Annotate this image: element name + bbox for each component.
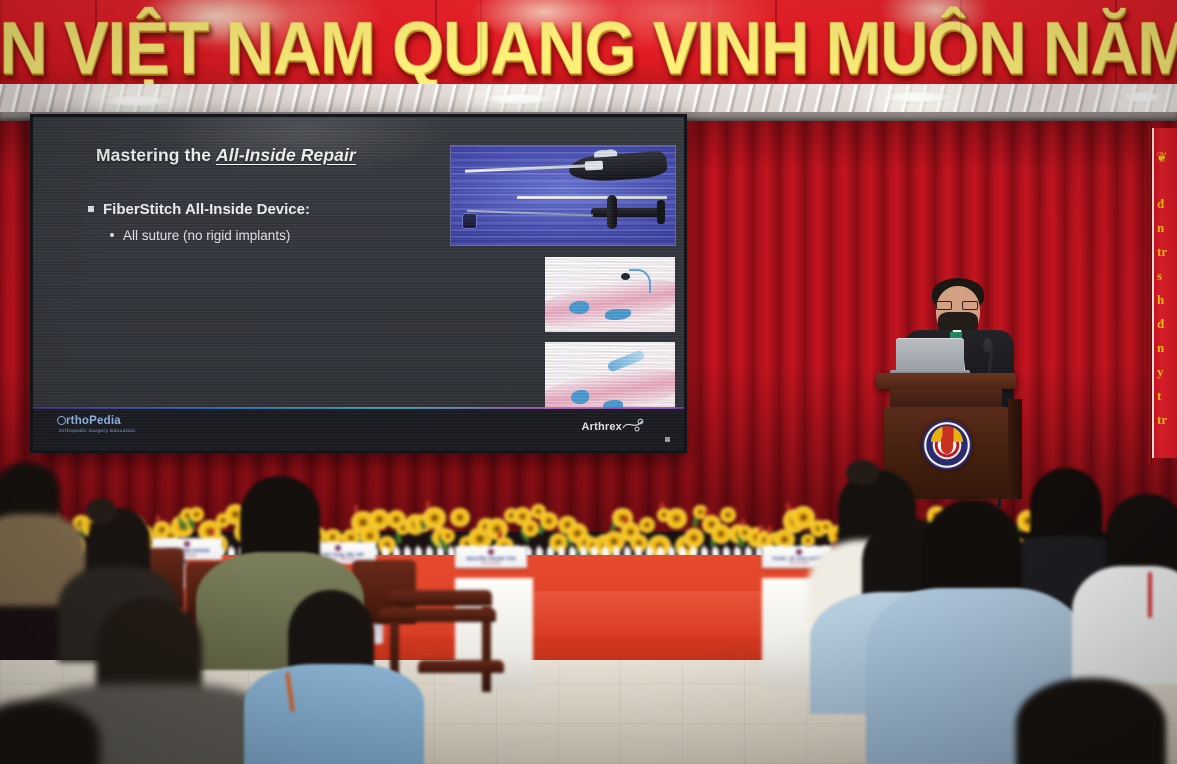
guide-rod (517, 196, 667, 199)
sunflower (423, 507, 446, 530)
audience-head (1016, 678, 1166, 764)
suture-wire (467, 210, 593, 216)
audience-hair-bun (846, 460, 880, 486)
podium-side-panel (1008, 399, 1022, 499)
placard-role-text: Chủ tọa đoàn (481, 561, 500, 565)
sunflower (666, 508, 687, 529)
orthopedia-tagline: Orthopedic Surgery Education (59, 428, 135, 433)
dot-bullet-icon (110, 233, 114, 237)
sunflower (540, 512, 558, 530)
sunflower (189, 507, 204, 522)
cross-handle-instrument (591, 208, 661, 217)
audience-body (1072, 566, 1177, 684)
audience-hair-bun (86, 498, 116, 524)
placard-role-text: Chủ tọa đoàn (789, 561, 808, 565)
side-banner-text: đ n tr s h đ n y t tr (1157, 192, 1177, 432)
placard-crest-icon (488, 549, 494, 555)
screen-dead-pixel (665, 437, 670, 442)
slide-title-emphasis: All-Inside Repair (216, 145, 356, 165)
chair (388, 590, 492, 606)
orthopedia-logo: rthoPedia (57, 415, 121, 427)
sunflower (720, 507, 736, 523)
podium-and-speaker (860, 268, 1040, 498)
audience-head (240, 476, 320, 560)
university-emblem-icon (922, 420, 972, 470)
presentation-screen: Mastering the All-Inside Repair FiberSti… (33, 117, 684, 450)
name-placard: NGUYỄN THANH TÂN Chủ tọa đoàn (455, 546, 527, 568)
slide-title: Mastering the All-Inside Repair (96, 145, 356, 166)
ceiling-light (1120, 90, 1166, 104)
placard-crest-icon (184, 541, 190, 547)
audience-head (1030, 468, 1102, 546)
audience-head (96, 598, 202, 698)
slide-bullet-primary-text: FiberStitch All-Inside Device: (103, 201, 310, 218)
sunflower (639, 517, 655, 533)
slide-bullet-secondary-text: All suture (no rigid implants) (123, 228, 290, 243)
side-vertical-banner: ❦ đ n tr s h đ n y t tr (1152, 128, 1177, 458)
podium-top-surface (876, 373, 1016, 389)
sunflower (441, 529, 455, 543)
arthrex-logo-text: Arthrex (581, 421, 622, 433)
top-red-banner: ẢN VIỆT NAM QUANG VINH MUÔN NĂM (0, 0, 1177, 84)
podium-neck (890, 389, 1002, 407)
slide-title-plain: Mastering the (96, 145, 216, 165)
audience-lanyard (1148, 572, 1152, 618)
sunflower (711, 524, 731, 544)
ceiling-light (880, 90, 956, 104)
square-bullet-icon (88, 206, 94, 212)
sunflower (522, 520, 539, 537)
chair (378, 608, 496, 622)
sunflower (450, 508, 470, 528)
speaker-glasses-icon (936, 301, 980, 310)
presenter-laptop[interactable] (896, 338, 964, 371)
banner-ornament-icon: ❦ (1156, 150, 1176, 174)
slide-bullet-primary: FiberStitch All-Inside Device: (88, 201, 310, 218)
slide-bullet-secondary: All suture (no rigid implants) (110, 228, 290, 243)
led-screen-frame: Mastering the All-Inside Repair FiberSti… (30, 114, 687, 453)
slide-image-instruments (451, 146, 675, 245)
implant-block (463, 214, 476, 228)
needle-tip (621, 273, 630, 280)
placard-crest-icon (796, 549, 802, 555)
placard-crest-icon (335, 545, 341, 551)
chair (418, 660, 504, 673)
meniscus-fragment (569, 301, 589, 314)
slide-image-meniscus-1 (545, 257, 675, 332)
ceiling-light (480, 92, 556, 106)
logo-ring-icon (57, 416, 66, 425)
orthopedia-logo-text: rthoPedia (66, 415, 121, 427)
banner-slogan-text: ẢN VIỆT NAM QUANG VINH MUÔN NĂM (0, 6, 1177, 84)
arthrex-knot-icon (622, 417, 644, 433)
conference-photo: ẢN VIỆT NAM QUANG VINH MUÔN NĂM ❦ đ n tr… (0, 0, 1177, 764)
meniscus-fragment (571, 390, 589, 404)
audience-body (244, 664, 424, 764)
ceiling-light (98, 94, 174, 108)
